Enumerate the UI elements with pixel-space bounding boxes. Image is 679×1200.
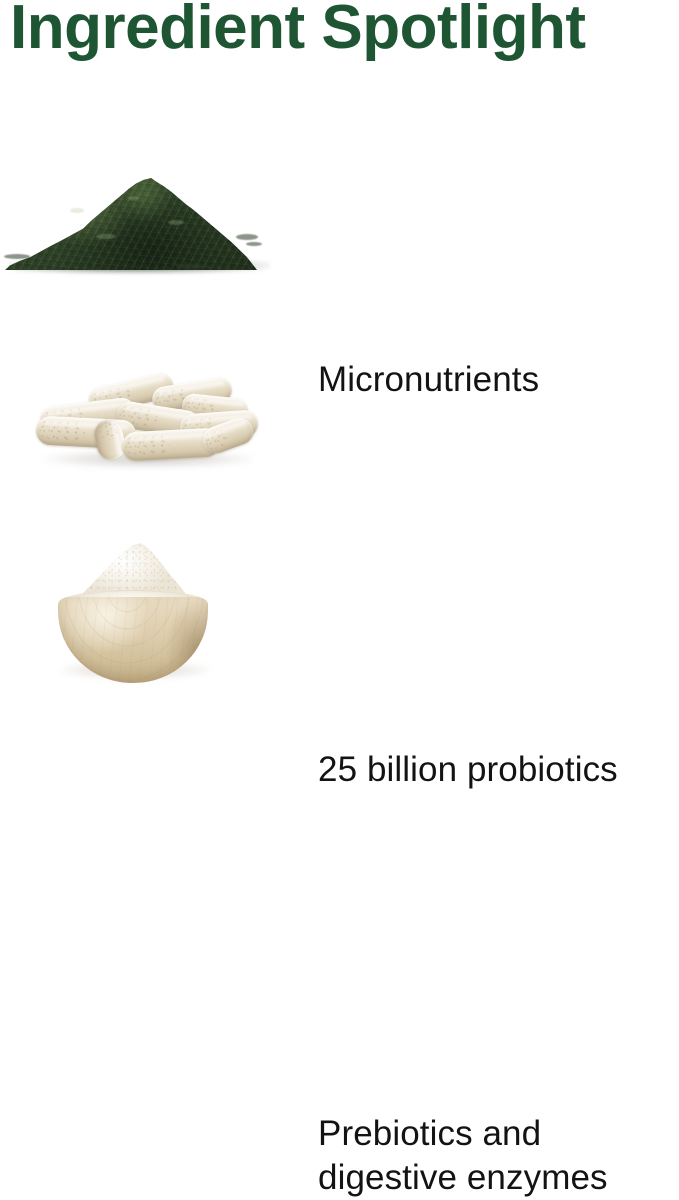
powder-grain-texture <box>5 178 257 270</box>
powder-spill <box>4 254 30 259</box>
powder-spill <box>236 234 258 240</box>
ingredient-row-prebiotics: Prebiotics and digestive enzymes <box>0 540 679 690</box>
ingredient-label-prebiotics-line1: Prebiotics and <box>318 1114 541 1153</box>
spirulina-powder-mound-image <box>0 172 280 287</box>
powder-flake <box>96 234 116 239</box>
powder-flake <box>168 220 184 225</box>
ingredient-row-probiotics: 25 billion probiotics <box>0 360 679 500</box>
ingredient-row-micronutrients: Micronutrients <box>0 160 679 300</box>
page-title: Ingredient Spotlight <box>10 0 675 62</box>
powder-flake <box>70 208 84 213</box>
bowl-wood-grain <box>58 597 208 683</box>
powder-flake <box>128 196 139 200</box>
wooden-bowl-powder-image <box>45 545 245 690</box>
ingredient-label-prebiotics-line2: digestive enzymes <box>318 1158 608 1197</box>
ingredient-label-probiotics: 25 billion probiotics <box>318 748 618 792</box>
probiotic-capsules-image <box>30 372 280 482</box>
bowl-body <box>58 597 208 683</box>
powder-spill <box>246 242 262 246</box>
powder-mound-shape <box>5 178 257 270</box>
powder-spill <box>176 264 206 269</box>
ingredient-label-prebiotics: Prebiotics and digestive enzymes <box>318 1112 679 1200</box>
